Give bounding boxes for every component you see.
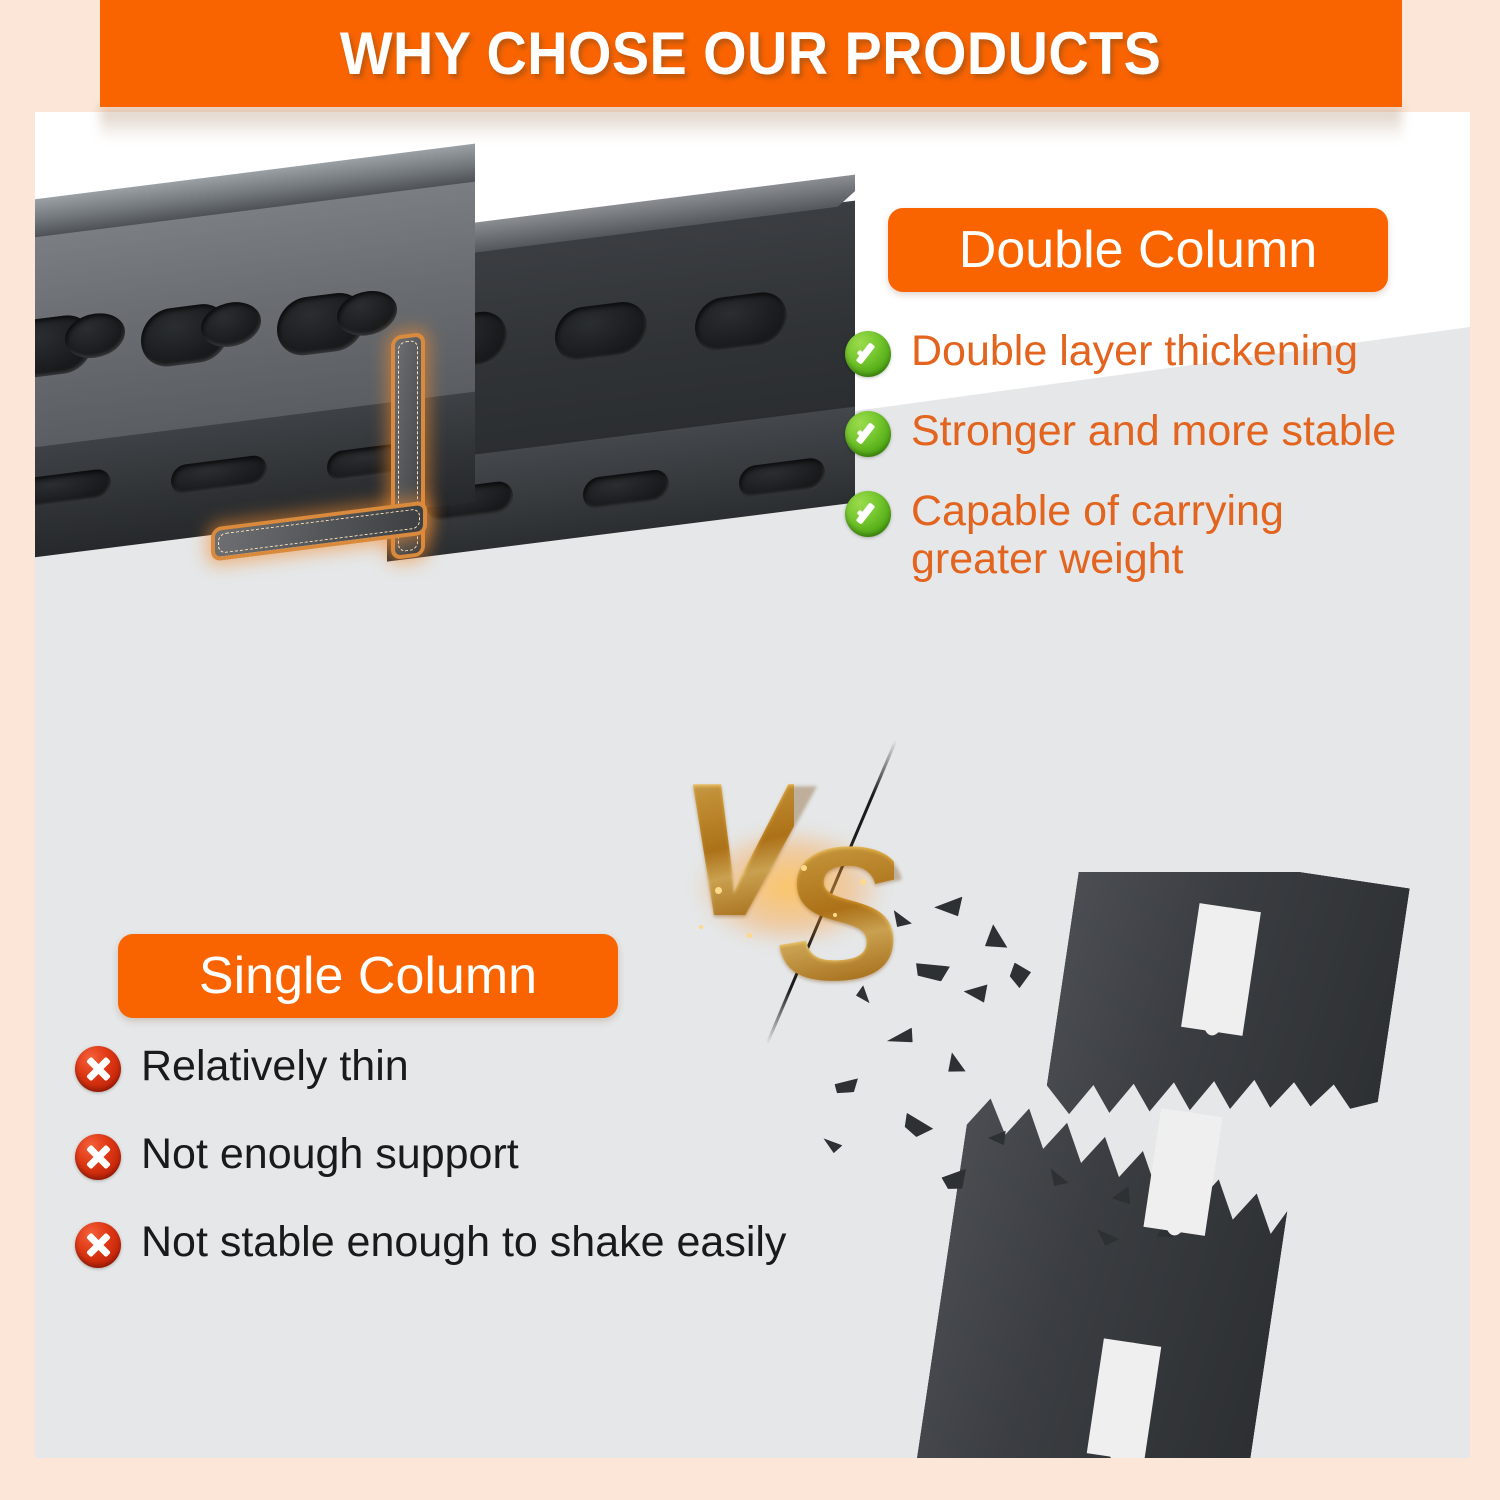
list-item: Not stable enough to shake easily — [75, 1218, 895, 1268]
vs-emblem: V S — [655, 737, 975, 1027]
badge-double-column: Double Column — [888, 208, 1388, 292]
list-item: Capable of carrying greater weight — [845, 487, 1465, 583]
badge-single-column-label: Single Column — [199, 946, 537, 1006]
con-bullet-list: Relatively thin Not enough support Not s… — [75, 1042, 895, 1306]
pro-item-text: Capable of carrying greater weight — [911, 487, 1341, 583]
con-item-text: Not stable enough to shake easily — [141, 1218, 786, 1266]
debris-shard — [901, 1113, 936, 1141]
pro-bullet-list: Double layer thickening Stronger and mor… — [845, 327, 1465, 613]
cross-icon — [75, 1134, 121, 1180]
banner-shadow — [100, 107, 1402, 141]
header-banner: WHY CHOSE OUR PRODUCTS — [100, 0, 1402, 107]
cross-icon — [75, 1046, 121, 1092]
check-icon — [845, 491, 891, 537]
content-panel: V S — [35, 112, 1470, 1458]
debris-shard — [1008, 962, 1033, 990]
cross-icon — [75, 1222, 121, 1268]
list-item: Double layer thickening — [845, 327, 1465, 377]
con-item-text: Not enough support — [141, 1130, 519, 1178]
list-item: Not enough support — [75, 1130, 895, 1180]
list-item: Relatively thin — [75, 1042, 895, 1092]
debris-shard — [942, 1052, 970, 1079]
debris-shard — [979, 924, 1013, 958]
double-column-product-image — [35, 112, 855, 612]
pro-item-text: Double layer thickening — [911, 327, 1358, 375]
check-icon — [845, 411, 891, 457]
list-item: Stronger and more stable — [845, 407, 1465, 457]
pro-item-text: Stronger and more stable — [911, 407, 1396, 455]
badge-double-column-label: Double Column — [959, 220, 1317, 280]
page-title: WHY CHOSE OUR PRODUCTS — [340, 19, 1161, 88]
con-item-text: Relatively thin — [141, 1042, 409, 1090]
badge-single-column: Single Column — [118, 934, 618, 1018]
check-icon — [845, 331, 891, 377]
